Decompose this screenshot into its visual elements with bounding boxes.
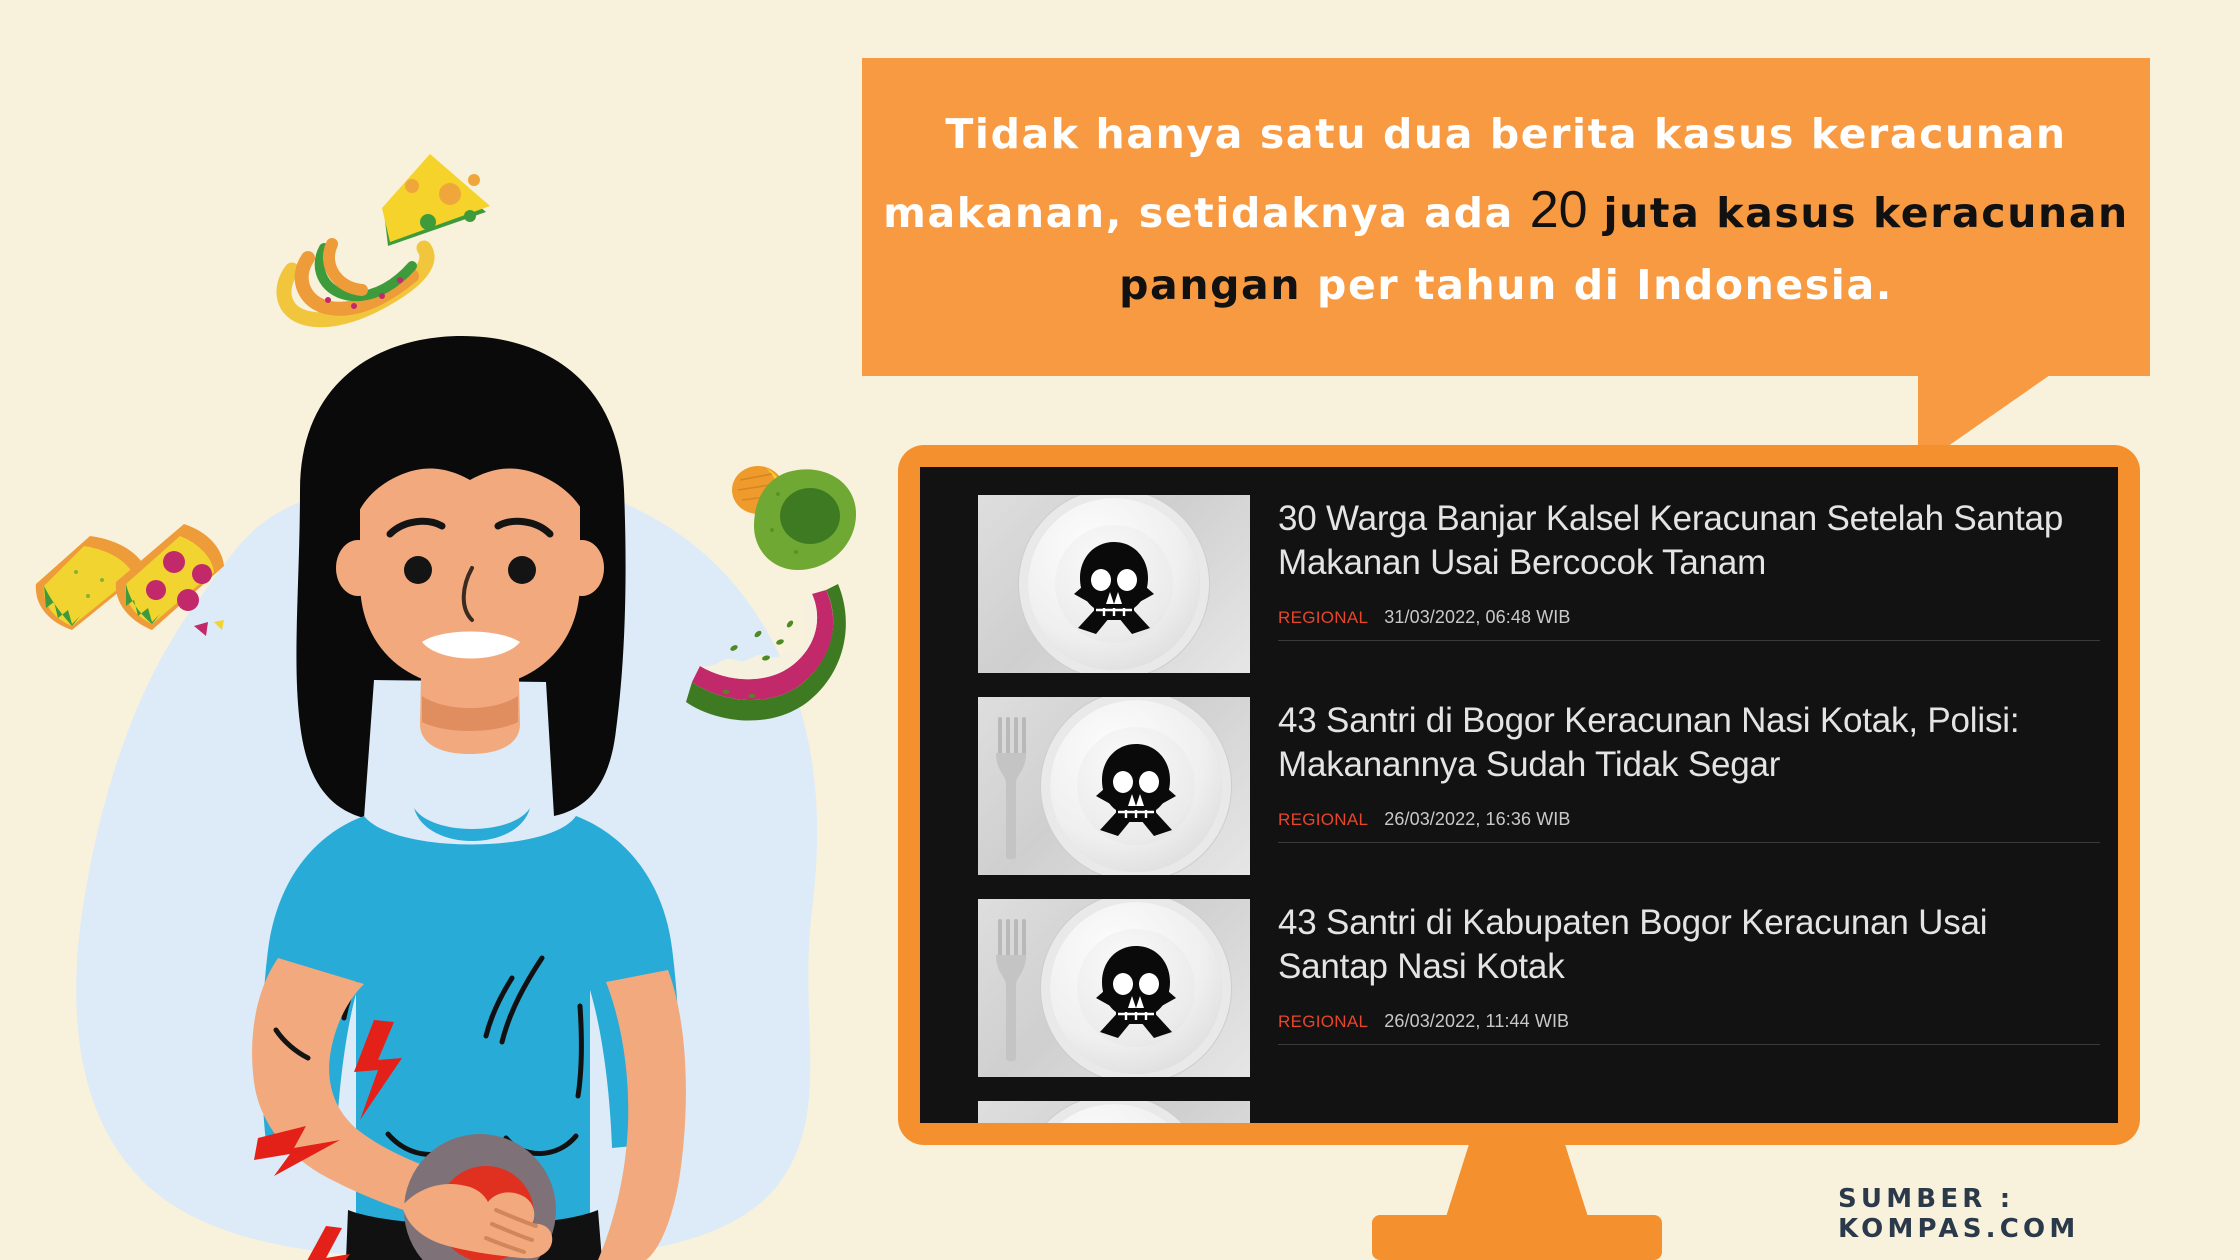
fork-icon xyxy=(994,713,1028,861)
source-attribution: SUMBER : KOMPAS.COM xyxy=(1838,1184,2240,1244)
news-divider xyxy=(1278,640,2100,641)
news-list-item[interactable]: 30 Warga Banjar Kalsel Keracunan Setelah… xyxy=(978,481,2100,683)
news-thumbnail[interactable] xyxy=(978,1101,1250,1123)
news-body: 43 Santri di Kabupaten Bogor Keracunan U… xyxy=(1278,899,2100,1077)
infographic-canvas: Tidak hanya satu dua berita kasus keracu… xyxy=(0,0,2240,1260)
bubble-text-2b: juta kasus keracunan xyxy=(1588,189,2129,237)
news-list-item[interactable]: 43 Santri di Kabupaten Bogor Keracunan U… xyxy=(978,885,2100,1087)
news-meta: REGIONAL 26/03/2022, 11:44 WIB xyxy=(1278,1011,2100,1032)
character-illustration xyxy=(150,330,790,1260)
bubble-text-3b: per tahun di Indonesia. xyxy=(1301,261,1893,309)
news-timestamp: 31/03/2022, 06:48 WIB xyxy=(1384,607,1570,628)
bubble-text-2a: makanan, setidaknya ada xyxy=(883,189,1530,237)
news-meta: REGIONAL 26/03/2022, 16:36 WIB xyxy=(1278,809,2100,830)
news-list-item[interactable]: 43 Santri di Bogor Keracunan Nasi Kotak,… xyxy=(978,683,2100,885)
speech-bubble-line-2: makanan, setidaknya ada 20 juta kasus ke… xyxy=(883,168,2129,252)
news-timestamp: 26/03/2022, 11:44 WIB xyxy=(1384,1011,1569,1032)
news-category-badge[interactable]: REGIONAL xyxy=(1278,608,1368,628)
monitor-screen: 30 Warga Banjar Kalsel Keracunan Setelah… xyxy=(920,467,2118,1123)
news-thumbnail[interactable] xyxy=(978,697,1250,875)
news-list[interactable]: 30 Warga Banjar Kalsel Keracunan Setelah… xyxy=(978,467,2100,1123)
news-timestamp: 26/03/2022, 16:36 WIB xyxy=(1384,809,1570,830)
news-title[interactable]: 30 Warga Banjar Kalsel Keracunan Setelah… xyxy=(1278,497,2100,585)
news-body: 43 Santri di Bogor Keracunan Nasi Kotak,… xyxy=(1278,697,2100,875)
speech-bubble: Tidak hanya satu dua berita kasus keracu… xyxy=(862,58,2150,376)
bubble-text-1: Tidak hanya satu dua berita kasus keracu… xyxy=(945,110,2066,158)
news-title[interactable]: 43 Santri di Bogor Keracunan Nasi Kotak,… xyxy=(1278,699,2100,787)
skull-crossbones-icon xyxy=(1082,736,1190,836)
skull-crossbones-icon xyxy=(1060,534,1168,634)
news-body: 30 Warga Banjar Kalsel Keracunan Setelah… xyxy=(1278,495,2100,673)
monitor-frame: 30 Warga Banjar Kalsel Keracunan Setelah… xyxy=(898,445,2140,1145)
speech-bubble-line-3: pangan per tahun di Indonesia. xyxy=(1119,252,1893,318)
speech-bubble-line-1: Tidak hanya satu dua berita kasus keracu… xyxy=(945,101,2066,167)
news-category-badge[interactable]: REGIONAL xyxy=(1278,1012,1368,1032)
news-thumbnail[interactable] xyxy=(978,495,1250,673)
news-divider xyxy=(1278,1044,2100,1045)
noodles-icon xyxy=(272,218,442,328)
bubble-highlight-number: 20 xyxy=(1530,181,1588,239)
monitor-stand-base xyxy=(1372,1215,1662,1260)
news-body xyxy=(1278,1101,2100,1123)
news-thumbnail[interactable] xyxy=(978,899,1250,1077)
news-title[interactable]: 43 Santri di Kabupaten Bogor Keracunan U… xyxy=(1278,901,2100,989)
skull-crossbones-icon xyxy=(1082,938,1190,1038)
news-list-item-partial[interactable] xyxy=(978,1087,2100,1123)
news-category-badge[interactable]: REGIONAL xyxy=(1278,810,1368,830)
news-divider xyxy=(1278,842,2100,843)
fork-icon xyxy=(994,915,1028,1063)
bubble-text-3a: pangan xyxy=(1119,261,1301,309)
plate-icon xyxy=(1028,1104,1200,1123)
news-meta: REGIONAL 31/03/2022, 06:48 WIB xyxy=(1278,607,2100,628)
